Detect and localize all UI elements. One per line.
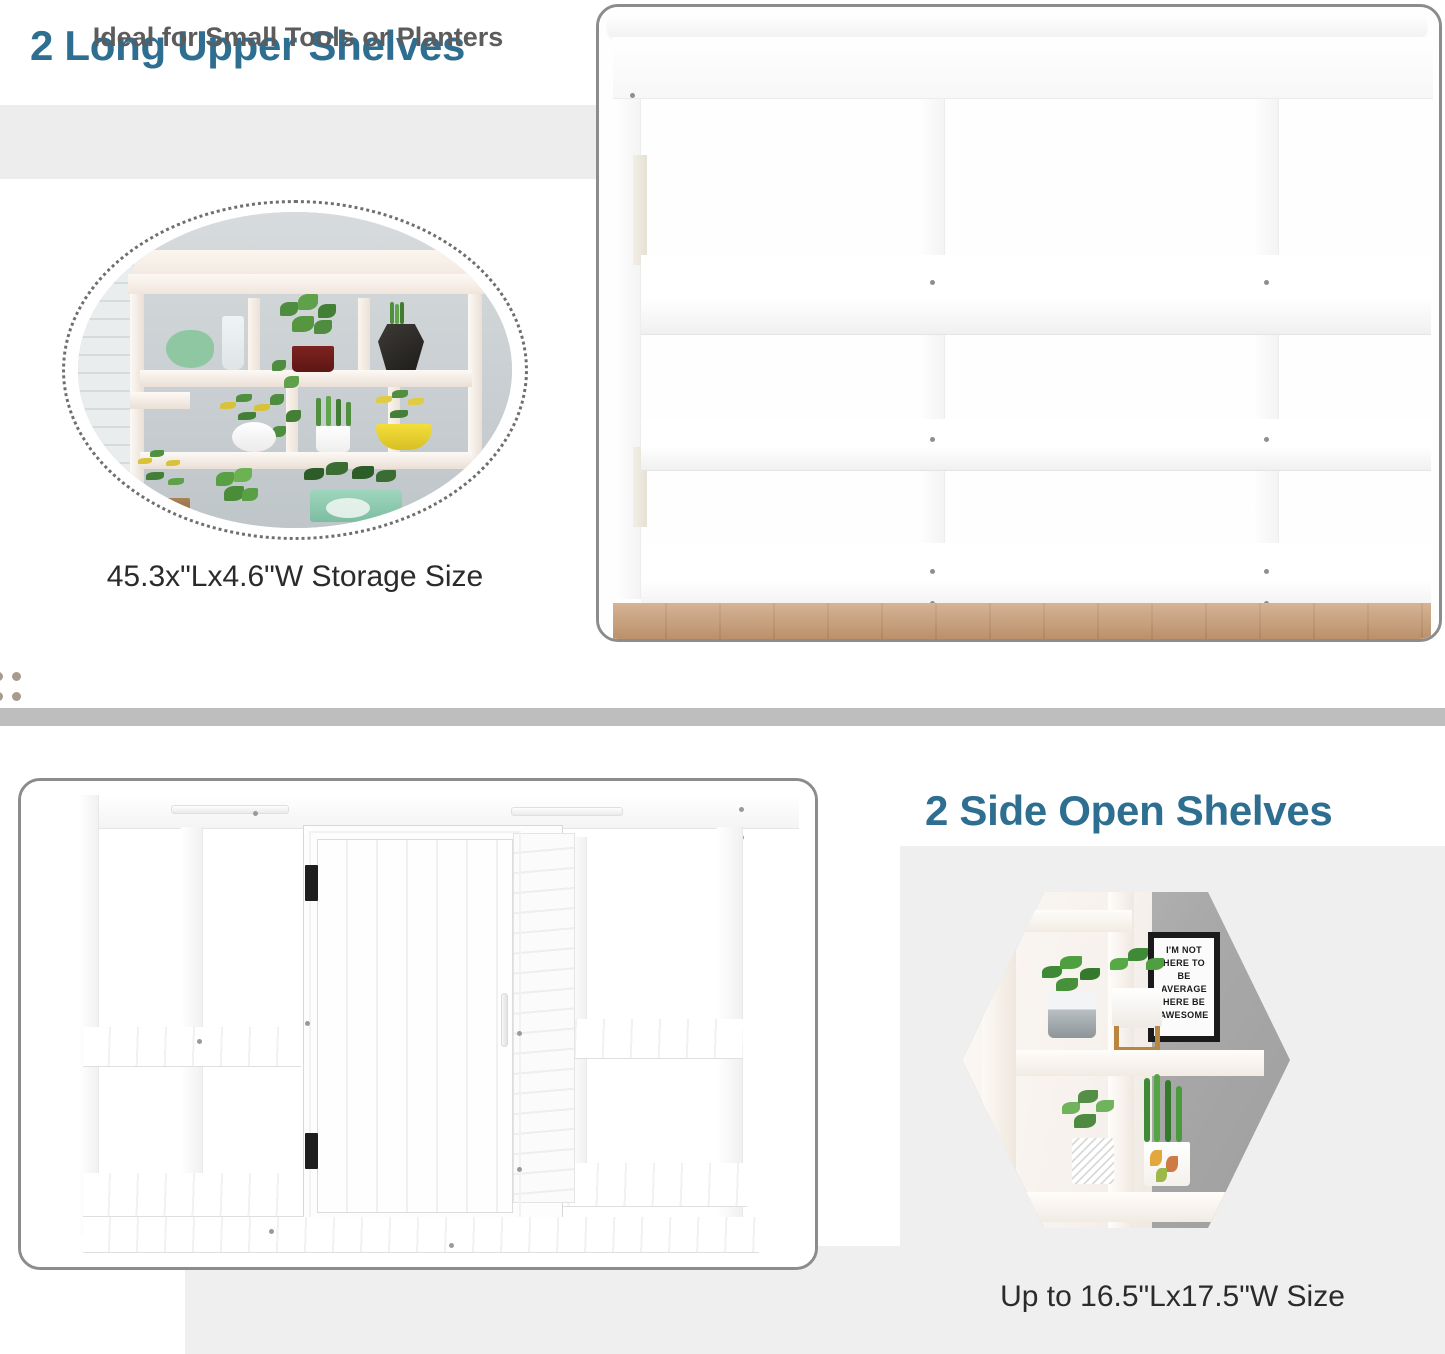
- hex-pot-decor-leaf-2: [1166, 1156, 1178, 1172]
- screw: [253, 811, 258, 816]
- long-upper-shelf-1: [641, 255, 1431, 335]
- screw: [739, 807, 744, 812]
- main-product-photo-potting-bench: [18, 778, 818, 1270]
- hutch-bottom-board: [641, 543, 1431, 611]
- hex-pot-white-stand: [1112, 988, 1162, 1028]
- infographic-page: 2 Long Upper Shelves Ideal for Small Too…: [0, 0, 1445, 1354]
- cabinet-hinge-top: [305, 865, 318, 901]
- shelf-divider-1: [248, 298, 260, 370]
- hex-pot-decor-leaf-3: [1156, 1168, 1167, 1182]
- shelf-top-board-front: [128, 274, 484, 294]
- hex-wooden-plant-stand: [1114, 1026, 1160, 1050]
- subtitle-ideal-for-small-tools: Ideal for Small Tools or Planters: [0, 0, 596, 74]
- caption-side-shelf-size: Up to 16.5"Lx17.5"W Size: [900, 1280, 1445, 1314]
- screw: [517, 1167, 522, 1172]
- hutch-post-center: [917, 99, 945, 599]
- wood-deck-shading: [613, 603, 1431, 639]
- shelf-board-ledge: [130, 392, 190, 409]
- screw: [930, 280, 935, 285]
- tabletop-handle-left: [171, 805, 289, 814]
- shelf-divider-2: [358, 298, 370, 370]
- bench-bottom-rail: [83, 1217, 759, 1253]
- decor-yellow-cup: [376, 424, 432, 450]
- decor-white-round-vase: [232, 422, 276, 452]
- cabinet-side-slats: [513, 833, 575, 1203]
- decor-white-pot-center: [316, 426, 350, 452]
- oval-inset-photo-frame: [62, 200, 528, 540]
- cabinet-hinge-bottom: [305, 1133, 318, 1169]
- screw: [305, 1021, 310, 1026]
- hex-plant-lower-left: [1058, 1088, 1118, 1144]
- section-divider-bar: [0, 708, 1445, 726]
- caption-storage-size: 45.3x"Lx4.6"W Storage Size: [62, 560, 528, 594]
- decor-green-stone: [166, 330, 214, 368]
- photo-shelf-unit: [126, 250, 486, 520]
- screw: [1264, 569, 1269, 574]
- screw: [930, 569, 935, 574]
- decor-spiky-grass: [388, 302, 404, 326]
- section-side-open-shelves: 2 Side Open Shelves I'M NOTHERE TO BEAVE…: [0, 726, 1445, 1354]
- screw: [197, 1039, 202, 1044]
- photo-canvas: [21, 781, 815, 1267]
- cabinet-door[interactable]: [317, 839, 513, 1213]
- left-open-shelf-upper: [83, 1027, 301, 1067]
- screw: [269, 1229, 274, 1234]
- decor-bottom-bush: [210, 468, 266, 516]
- decorative-dot-grid: [0, 672, 34, 702]
- left-open-shelf-lower: [83, 1173, 313, 1217]
- screw: [630, 93, 635, 98]
- hutch-top-rail: [607, 15, 1427, 37]
- oval-lifestyle-photo: [78, 212, 512, 528]
- hex-pot-patterned: [1072, 1138, 1114, 1184]
- hutch-post-right: [1251, 99, 1279, 599]
- main-product-photo-upper-shelves: [596, 4, 1442, 642]
- decor-geometric-planter: [378, 324, 424, 370]
- shelf-post-right: [468, 294, 482, 520]
- hutch-bracket-upper: [633, 155, 647, 265]
- subtitle-band: [0, 105, 596, 179]
- hexagon-inset-photo-frame: I'M NOTHERE TO BEAVERAGEHERE BEAWESOME: [940, 870, 1312, 1250]
- screw: [1264, 280, 1269, 285]
- tabletop-handle-right: [511, 807, 623, 816]
- decor-wood-box: [142, 498, 190, 520]
- decor-glass-vase: [222, 316, 244, 370]
- hutch-back-panel: [613, 37, 1433, 99]
- bench-leg-far-left: [79, 795, 99, 1235]
- decor-grass-center: [312, 396, 358, 430]
- hex-pot-silver: [1048, 992, 1096, 1038]
- long-upper-shelf-2: [641, 419, 1431, 471]
- section-long-upper-shelves: 2 Long Upper Shelves Ideal for Small Too…: [0, 0, 1445, 708]
- decor-tin-label: [326, 498, 370, 518]
- screw: [449, 1243, 454, 1248]
- screw: [1264, 437, 1269, 442]
- photo-canvas: [599, 7, 1439, 639]
- hex-pot-decor-leaf-1: [1150, 1150, 1162, 1166]
- screw: [930, 437, 935, 442]
- hex-plant-lower-right: [1138, 1074, 1194, 1146]
- hex-shelf-board-middle: [1002, 1050, 1264, 1076]
- headline-side-open-shelves: 2 Side Open Shelves: [925, 787, 1332, 835]
- shelf-top-board: [134, 250, 478, 276]
- screw: [517, 1031, 522, 1036]
- decor-ivy-plant: [276, 294, 346, 352]
- cabinet-door-handle[interactable]: [501, 993, 508, 1047]
